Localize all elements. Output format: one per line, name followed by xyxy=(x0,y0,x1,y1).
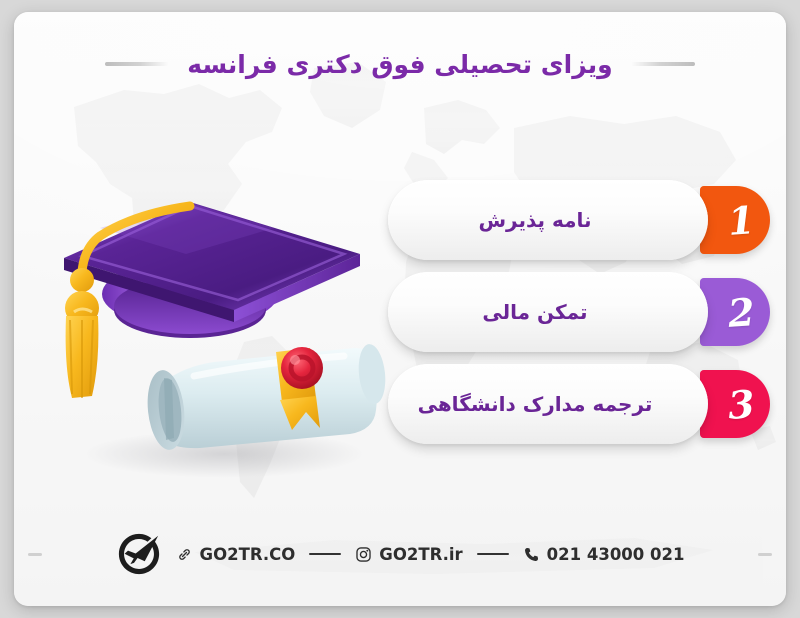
step-label-3: ترجمه مدارک دانشگاهی xyxy=(418,392,653,416)
footer-separator xyxy=(477,553,509,556)
footer: GO2TR.CO GO2TR.ir 021 43000 021 xyxy=(14,530,786,578)
footer-tick-right xyxy=(758,553,772,556)
header: ویزای تحصیلی فوق دکتری فرانسه xyxy=(14,40,786,88)
step-number-1: 1 xyxy=(726,197,756,244)
footer-website-text: GO2TR.CO xyxy=(200,545,296,564)
step-row[interactable]: 2 تمکن مالی xyxy=(388,272,738,352)
link-icon xyxy=(176,546,193,563)
step-row[interactable]: 1 نامه پذیرش xyxy=(388,180,738,260)
step-badge-3: 3 xyxy=(700,370,770,438)
step-pill-2[interactable]: تمکن مالی xyxy=(388,272,708,352)
footer-item-phone[interactable]: 021 43000 021 xyxy=(523,545,685,564)
steps-list: 1 نامه پذیرش 2 تمکن مالی 3 ترجمه مدارک د… xyxy=(388,180,738,444)
footer-separator xyxy=(309,553,341,556)
step-label-2: تمکن مالی xyxy=(482,300,587,324)
footer-item-instagram[interactable]: GO2TR.ir xyxy=(355,545,462,564)
footer-instagram-text: GO2TR.ir xyxy=(379,545,462,564)
graduation-cap-illustration xyxy=(24,162,404,482)
header-rule-right xyxy=(631,62,695,66)
wax-seal xyxy=(281,347,323,389)
footer-tick-left xyxy=(28,553,42,556)
step-badge-2: 2 xyxy=(700,278,770,346)
step-badge-1: 1 xyxy=(700,186,770,254)
header-rule-left xyxy=(105,62,169,66)
step-row[interactable]: 3 ترجمه مدارک دانشگاهی xyxy=(388,364,738,444)
step-pill-1[interactable]: نامه پذیرش xyxy=(388,180,708,260)
step-pill-3[interactable]: ترجمه مدارک دانشگاهی xyxy=(388,364,708,444)
phone-icon xyxy=(523,546,540,563)
mortarboard-cap xyxy=(64,202,360,338)
page-title: ویزای تحصیلی فوق دکتری فرانسه xyxy=(187,50,612,79)
step-label-1: نامه پذیرش xyxy=(478,208,591,232)
step-number-2: 2 xyxy=(726,289,756,336)
instagram-icon xyxy=(355,546,372,563)
go2tr-airplane-logo xyxy=(116,531,162,577)
infographic-card: ویزای تحصیلی فوق دکتری فرانسه xyxy=(14,12,786,606)
diploma-scroll xyxy=(144,343,388,452)
step-number-3: 3 xyxy=(726,381,756,428)
footer-item-website[interactable]: GO2TR.CO xyxy=(176,545,296,564)
footer-phone-text: 021 43000 021 xyxy=(547,545,685,564)
